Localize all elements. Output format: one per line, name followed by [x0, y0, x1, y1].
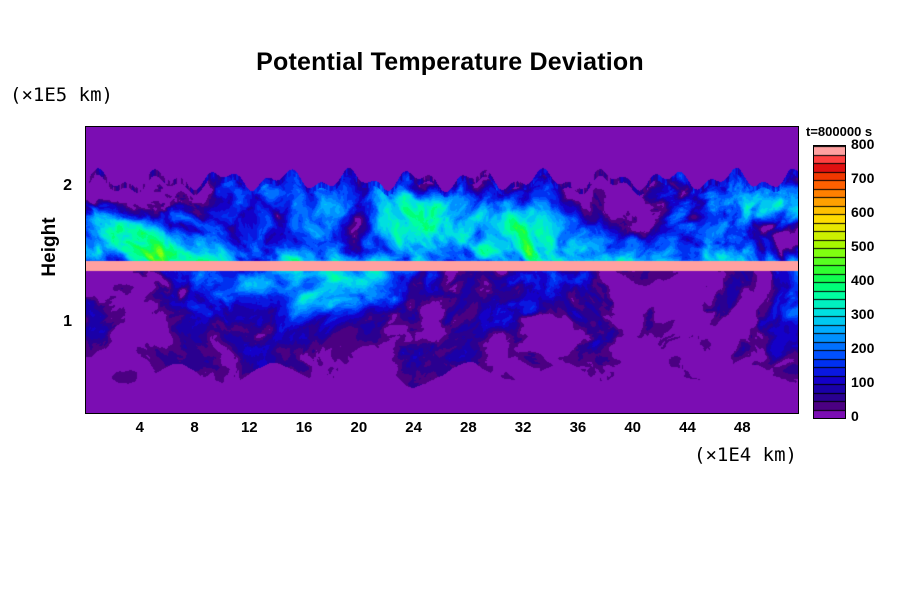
colorbar-tick-label: 300 — [851, 306, 874, 322]
colorbar-tick-label: 400 — [851, 272, 874, 288]
colorbar-tick-label: 0 — [851, 408, 859, 424]
x-tick-label: 36 — [558, 419, 598, 436]
x-tick-label: 28 — [448, 419, 488, 436]
x-tick-label: 20 — [339, 419, 379, 436]
colorbar-tick-label: 700 — [851, 170, 874, 186]
colorbar-gradient — [814, 146, 845, 418]
x-tick-label: 16 — [284, 419, 324, 436]
y-tick-label: 2 — [46, 177, 72, 195]
x-tick-label: 32 — [503, 419, 543, 436]
x-axis-unit-label: (×1E4 km) — [694, 444, 797, 466]
x-tick-label: 12 — [229, 419, 269, 436]
x-tick-label: 40 — [613, 419, 653, 436]
colorbar-tick-label: 600 — [851, 204, 874, 220]
y-tick-label: 1 — [46, 313, 72, 331]
colorbar-tick-label: 100 — [851, 374, 874, 390]
y-axis-unit-label: (×1E5 km) — [10, 84, 113, 106]
colorbar-tick-label: 500 — [851, 238, 874, 254]
colorbar — [813, 145, 846, 419]
colorbar-tick-label: 800 — [851, 136, 874, 152]
chart-title: Potential Temperature Deviation — [0, 48, 900, 77]
y-axis-title: Height — [39, 192, 61, 302]
heatmap-plot-area — [85, 126, 799, 414]
x-tick-label: 44 — [667, 419, 707, 436]
heatmap-field — [86, 127, 798, 413]
x-tick-label: 48 — [722, 419, 762, 436]
x-tick-label: 8 — [175, 419, 215, 436]
x-tick-label: 4 — [120, 419, 160, 436]
figure-canvas: Potential Temperature Deviation (×1E5 km… — [0, 0, 900, 600]
x-tick-label: 24 — [394, 419, 434, 436]
colorbar-tick-label: 200 — [851, 340, 874, 356]
